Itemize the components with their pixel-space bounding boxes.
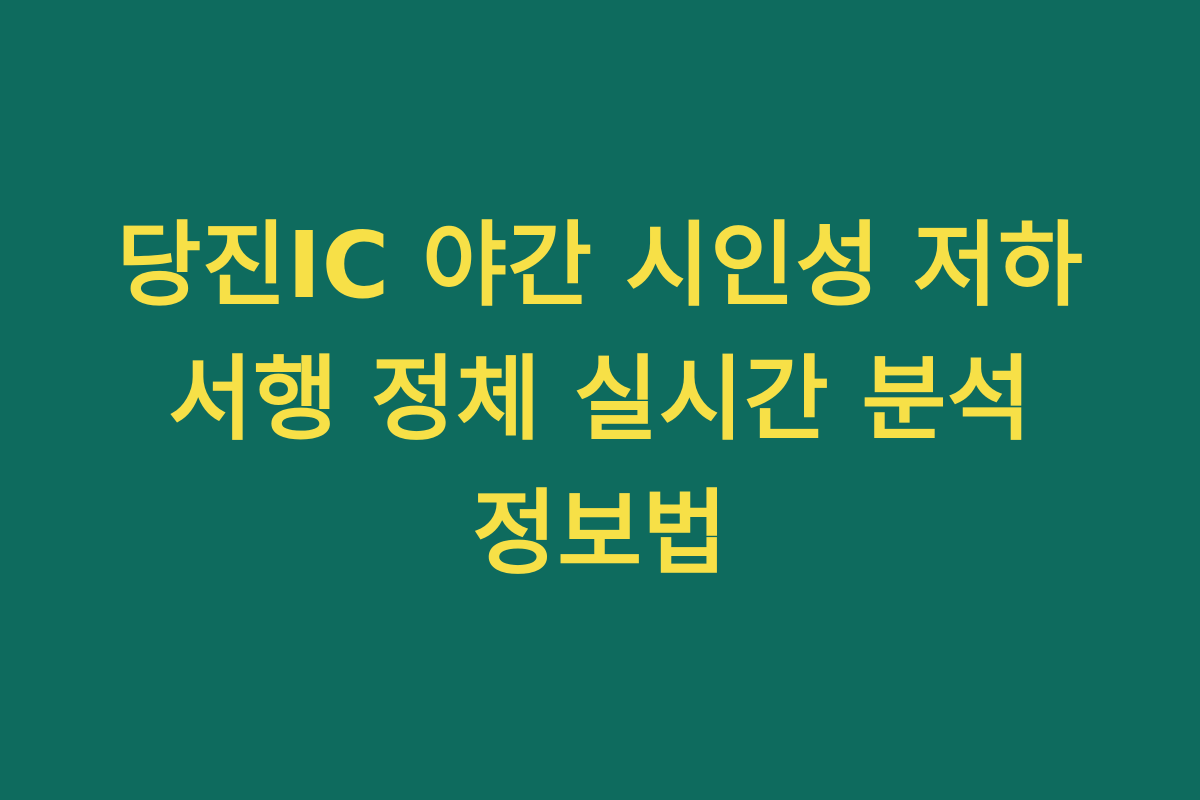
title-block: 당진IC 야간 시인성 저하 서행 정체 실시간 분석 정보법 bbox=[70, 199, 1130, 602]
page-title: 당진IC 야간 시인성 저하 서행 정체 실시간 분석 정보법 bbox=[70, 199, 1130, 602]
title-card: 당진IC 야간 시인성 저하 서행 정체 실시간 분석 정보법 bbox=[0, 0, 1200, 800]
